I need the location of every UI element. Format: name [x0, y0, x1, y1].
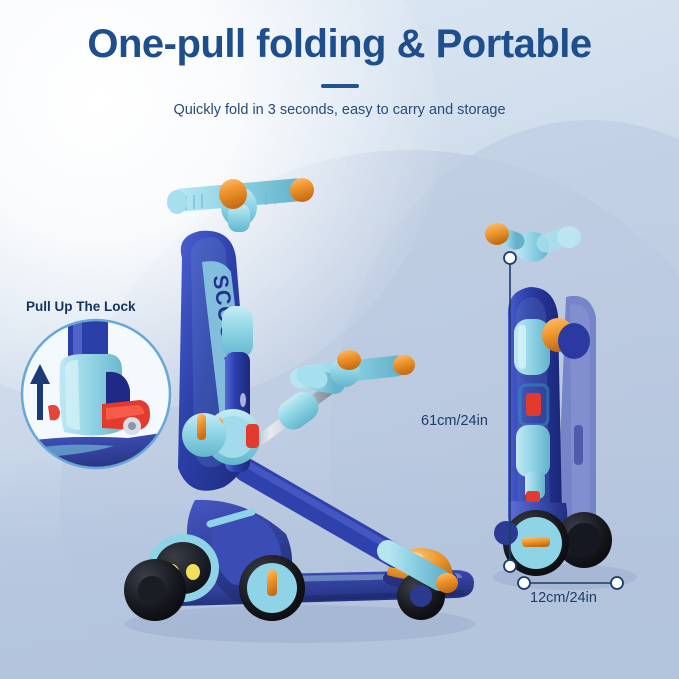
dimension-annotations	[0, 0, 679, 679]
product-feature-image: One-pull folding & Portable Quickly fold…	[0, 0, 679, 679]
width-dimension-label: 12cm/24in	[530, 590, 597, 606]
width-dimension-line	[518, 577, 623, 589]
height-dimension-label: 61cm/24in	[421, 413, 488, 429]
height-dimension-line	[504, 252, 516, 572]
